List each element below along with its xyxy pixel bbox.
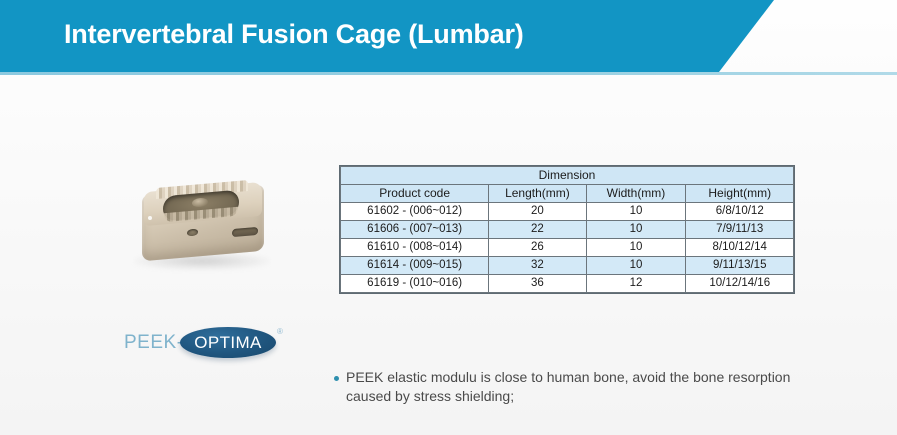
cell-product-code: 61602 - (006~012) — [341, 203, 489, 221]
product-image — [112, 176, 298, 284]
peek-optima-logo: PEEK- OPTIMA ® — [124, 325, 300, 361]
cell-product-code: 61606 - (007~013) — [341, 221, 489, 239]
cell-product-code: 61619 - (010~016) — [341, 275, 489, 293]
cell-height: 8/10/12/14 — [686, 239, 794, 257]
cell-height: 6/8/10/12 — [686, 203, 794, 221]
cell-length: 22 — [489, 221, 586, 239]
table-row: 61602 - (006~012) 20 10 6/8/10/12 — [341, 203, 794, 221]
feature-text: PEEK elastic modulu is close to human bo… — [346, 368, 804, 406]
table-body: 61602 - (006~012) 20 10 6/8/10/12 61606 … — [341, 203, 794, 293]
page-header: Intervertebral Fusion Cage (Lumbar) — [0, 0, 897, 72]
table-column-header-row: Product code Length(mm) Width(mm) Height… — [341, 185, 794, 203]
cell-height: 10/12/14/16 — [686, 275, 794, 293]
cell-product-code: 61614 - (009~015) — [341, 257, 489, 275]
table-group-header-row: Dimension — [341, 167, 794, 185]
registered-trademark-icon: ® — [277, 327, 283, 336]
header-underline — [0, 72, 897, 75]
table-group-header-cell: Dimension — [341, 167, 794, 185]
table-row: 61614 - (009~015) 32 10 9/11/13/15 — [341, 257, 794, 275]
cage-specular-dot — [148, 216, 152, 220]
cell-height: 9/11/13/15 — [686, 257, 794, 275]
page-title: Intervertebral Fusion Cage (Lumbar) — [64, 19, 524, 50]
logo-ellipse-shape: OPTIMA — [180, 327, 276, 358]
bullet-icon — [334, 376, 339, 381]
column-header-length: Length(mm) — [489, 185, 586, 203]
column-header-height: Height(mm) — [686, 185, 794, 203]
logo-prefix-text: PEEK- — [124, 332, 184, 354]
dimension-table: Dimension Product code Length(mm) Width(… — [340, 166, 794, 293]
cell-height: 7/9/11/13 — [686, 221, 794, 239]
column-header-width: Width(mm) — [586, 185, 686, 203]
cell-width: 10 — [586, 203, 686, 221]
cell-length: 20 — [489, 203, 586, 221]
cell-length: 36 — [489, 275, 586, 293]
cell-width: 12 — [586, 275, 686, 293]
list-item: PEEK elastic modulu is close to human bo… — [334, 368, 804, 406]
cell-width: 10 — [586, 257, 686, 275]
cell-product-code: 61610 - (008~014) — [341, 239, 489, 257]
table-row: 61610 - (008~014) 26 10 8/10/12/14 — [341, 239, 794, 257]
table-row: 61619 - (010~016) 36 12 10/12/14/16 — [341, 275, 794, 293]
cell-length: 32 — [489, 257, 586, 275]
cell-width: 10 — [586, 221, 686, 239]
table-row: 61606 - (007~013) 22 10 7/9/11/13 — [341, 221, 794, 239]
logo-mark-text: OPTIMA — [180, 327, 276, 358]
feature-list: PEEK elastic modulu is close to human bo… — [334, 368, 804, 406]
table-head: Dimension Product code Length(mm) Width(… — [341, 167, 794, 203]
cell-length: 26 — [489, 239, 586, 257]
column-header-product-code: Product code — [341, 185, 489, 203]
cell-width: 10 — [586, 239, 686, 257]
